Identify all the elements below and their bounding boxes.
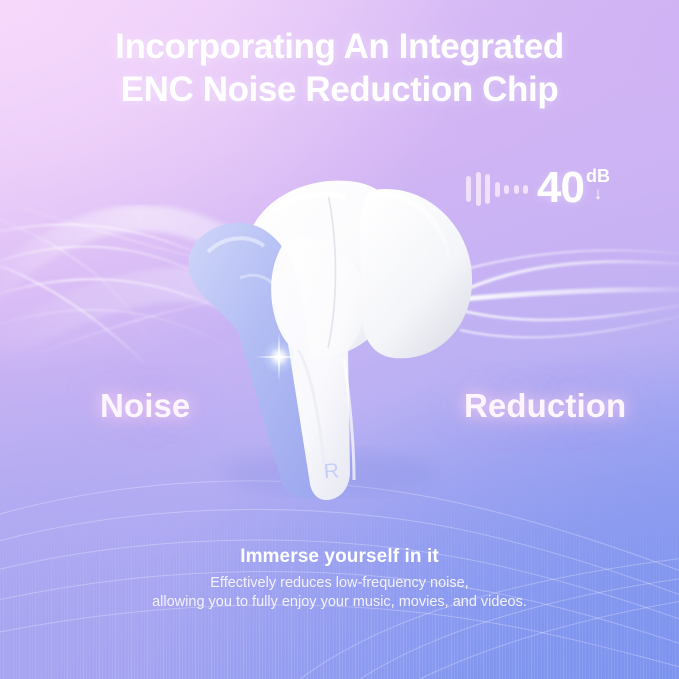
badge-unit-group: dB ↓ [586, 168, 610, 201]
footer-title: Immerse yourself in it [0, 546, 679, 568]
arrow-down-icon: ↓ [594, 186, 603, 201]
page-title: Incorporating An Integrated ENC Noise Re… [0, 26, 679, 111]
earbud-channel-label: R [323, 460, 340, 485]
tagword-noise: Noise [100, 387, 190, 425]
badge-unit-label: dB [586, 168, 610, 185]
product-feature-banner: Incorporating An Integrated ENC Noise Re… [0, 0, 679, 679]
footer-text-block: Immerse yourself in it Effectively reduc… [0, 546, 679, 612]
headline-line-1: Incorporating An Integrated [0, 26, 679, 69]
tagword-reduction: Reduction [464, 387, 626, 425]
sparkle-highlight-icon [262, 340, 296, 374]
headline-line-2: ENC Noise Reduction Chip [0, 69, 679, 112]
earbud-product-image [178, 172, 508, 512]
footer-line-2: allowing you to fully enjoy your music, … [0, 593, 679, 612]
badge-value: 40 [537, 168, 584, 208]
footer-line-1: Effectively reduces low-frequency noise, [0, 574, 679, 593]
